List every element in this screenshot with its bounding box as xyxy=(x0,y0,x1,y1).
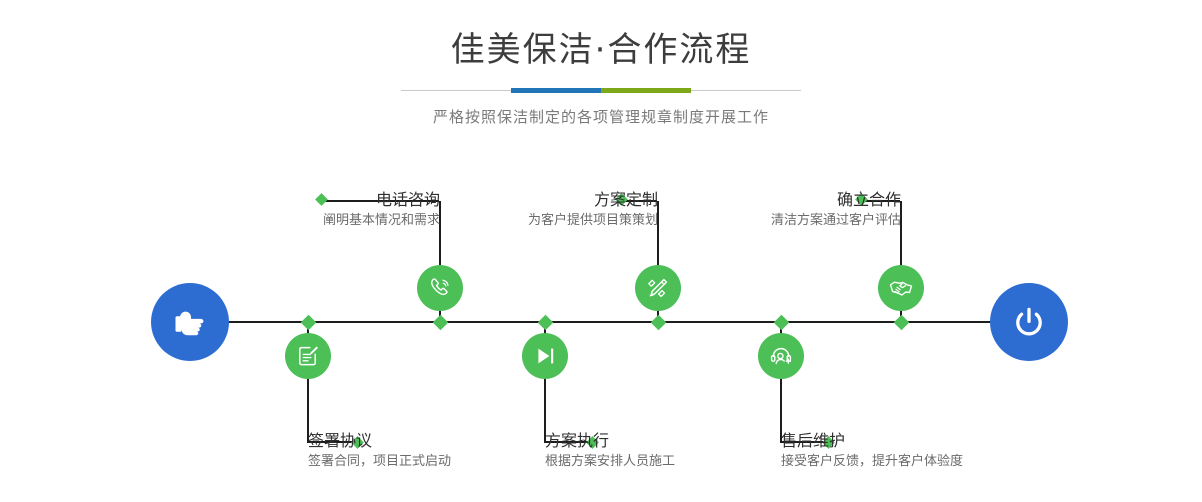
step-desc: 签署合同，项目正式启动 xyxy=(308,452,451,472)
handshake-icon xyxy=(888,275,914,301)
step-label: 售后维护 接受客户反馈，提升客户体验度 xyxy=(781,430,963,472)
play-execute-icon xyxy=(532,343,558,369)
flow-diagram-page: 佳美保洁·合作流程 严格按照保洁制定的各项管理规章制度开展工作 xyxy=(0,0,1202,502)
step-desc: 为客户提供项目策策划 xyxy=(528,211,658,231)
sign-document-icon xyxy=(295,343,321,369)
step-desc: 阐明基本情况和需求 xyxy=(323,211,440,231)
step-title: 方案执行 xyxy=(545,430,675,452)
step-label: 确立合作 清洁方案通过客户评估 xyxy=(771,189,901,231)
pointing-hand-icon xyxy=(169,301,211,343)
step-label: 方案执行 根据方案安排人员施工 xyxy=(545,430,675,472)
step-title: 方案定制 xyxy=(528,189,658,211)
step-label: 方案定制 为客户提供项目策策划 xyxy=(528,189,658,231)
step-icon-badge[interactable] xyxy=(417,265,463,311)
step-icon-badge[interactable] xyxy=(878,265,924,311)
step-title: 电话咨询 xyxy=(323,189,440,211)
step-desc: 接受客户反馈，提升客户体验度 xyxy=(781,452,963,472)
axis-marker-diamond xyxy=(538,315,554,331)
customer-service-icon xyxy=(768,343,794,369)
step-desc: 清洁方案通过客户评估 xyxy=(771,211,901,231)
step-icon-badge[interactable] xyxy=(758,333,804,379)
power-icon xyxy=(1008,301,1050,343)
axis-marker-diamond xyxy=(651,315,667,331)
step-title: 签署协议 xyxy=(308,430,451,452)
timeline-end-endpoint[interactable] xyxy=(990,283,1068,361)
timeline: 电话咨询 阐明基本情况和需求 xyxy=(0,0,1202,502)
pencil-design-icon xyxy=(645,275,671,301)
phone-icon xyxy=(427,275,453,301)
axis-marker-diamond xyxy=(301,315,317,331)
step-icon-badge[interactable] xyxy=(522,333,568,379)
step-label: 电话咨询 阐明基本情况和需求 xyxy=(323,189,440,231)
step-icon-badge[interactable] xyxy=(635,265,681,311)
axis-marker-diamond xyxy=(433,315,449,331)
step-title: 确立合作 xyxy=(771,189,901,211)
step-label: 签署协议 签署合同，项目正式启动 xyxy=(308,430,451,472)
axis-marker-diamond xyxy=(774,315,790,331)
step-icon-badge[interactable] xyxy=(285,333,331,379)
step-title: 售后维护 xyxy=(781,430,963,452)
step-desc: 根据方案安排人员施工 xyxy=(545,452,675,472)
axis-marker-diamond xyxy=(894,315,910,331)
timeline-start-endpoint[interactable] xyxy=(151,283,229,361)
